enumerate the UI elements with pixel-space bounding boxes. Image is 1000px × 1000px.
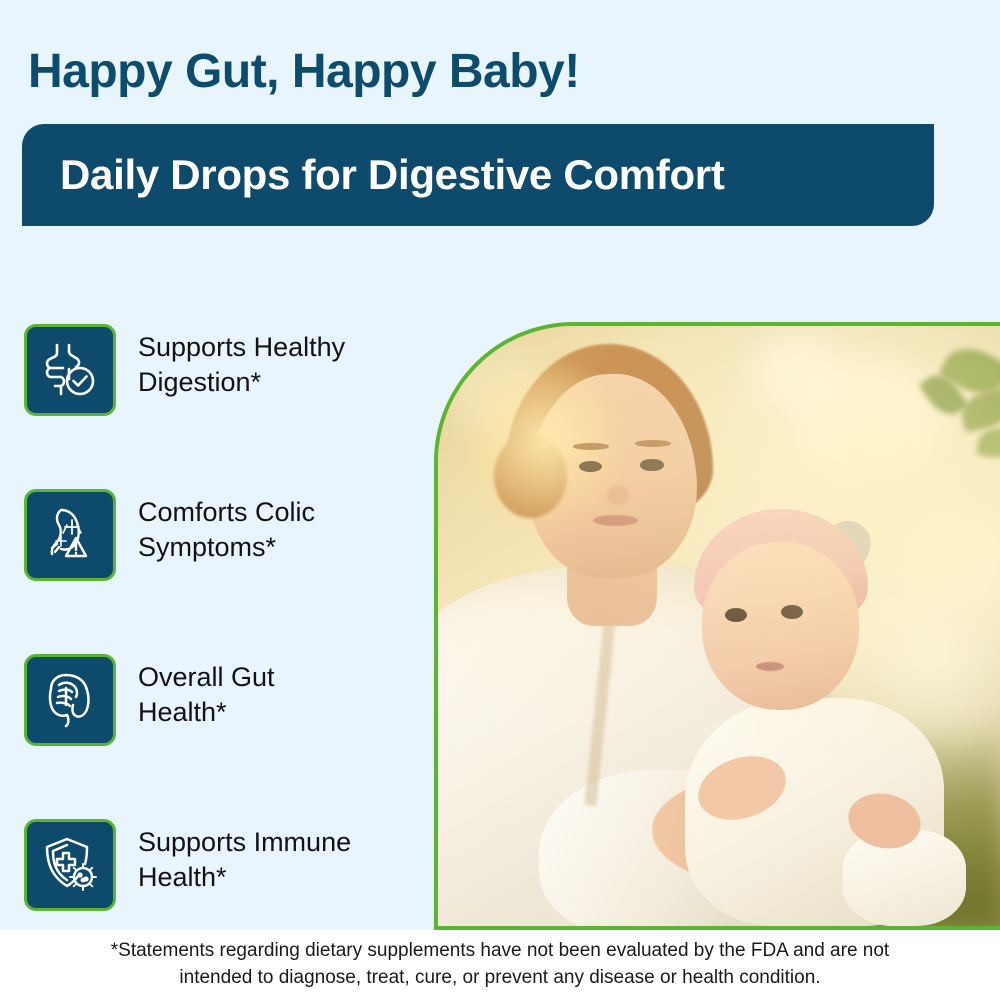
bokeh-light: [899, 506, 1000, 602]
disclaimer-line-2: intended to diagnose, treat, cure, or pr…: [179, 965, 820, 992]
feature-list: Supports Healthy Digestion*: [24, 322, 424, 982]
colon-icon: [24, 654, 116, 746]
stomach-warning-icon: [24, 489, 116, 581]
feature-item-digestion: Supports Healthy Digestion*: [24, 322, 424, 487]
product-lifestyle-photo: [434, 322, 1000, 930]
subtitle-banner: Daily Drops for Digestive Comfort: [22, 124, 934, 226]
feature-label-gut-health: Overall Gut Health*: [138, 660, 275, 729]
feature-label-immune: Supports Immune Health*: [138, 825, 351, 894]
feature-item-colic: Comforts Colic Symptoms*: [24, 487, 424, 652]
feature-item-gut-health: Overall Gut Health*: [24, 652, 424, 817]
mother-lips: [593, 515, 638, 526]
baby-mouth: [756, 662, 784, 671]
mother-eyebrow: [635, 440, 672, 447]
photo-scene: [438, 326, 1000, 926]
disclaimer-line-1: *Statements regarding dietary supplement…: [111, 938, 889, 965]
mother-eye: [640, 459, 664, 470]
baby-face: [702, 542, 859, 710]
infographic-page: Happy Gut, Happy Baby! Daily Drops for D…: [0, 0, 1000, 1000]
bokeh-light: [753, 338, 843, 410]
intestines-check-icon: [24, 324, 116, 416]
mother-eyebrow: [573, 443, 610, 450]
subtitle-banner-text: Daily Drops for Digestive Comfort: [60, 151, 725, 199]
shield-germ-icon: [24, 819, 116, 911]
feature-label-colic: Comforts Colic Symptoms*: [138, 495, 315, 564]
backlight-glow: [472, 350, 618, 530]
feature-label-digestion: Supports Healthy Digestion*: [138, 330, 345, 399]
disclaimer-footer: *Statements regarding dietary supplement…: [0, 930, 1000, 1000]
page-title: Happy Gut, Happy Baby!: [28, 44, 580, 99]
